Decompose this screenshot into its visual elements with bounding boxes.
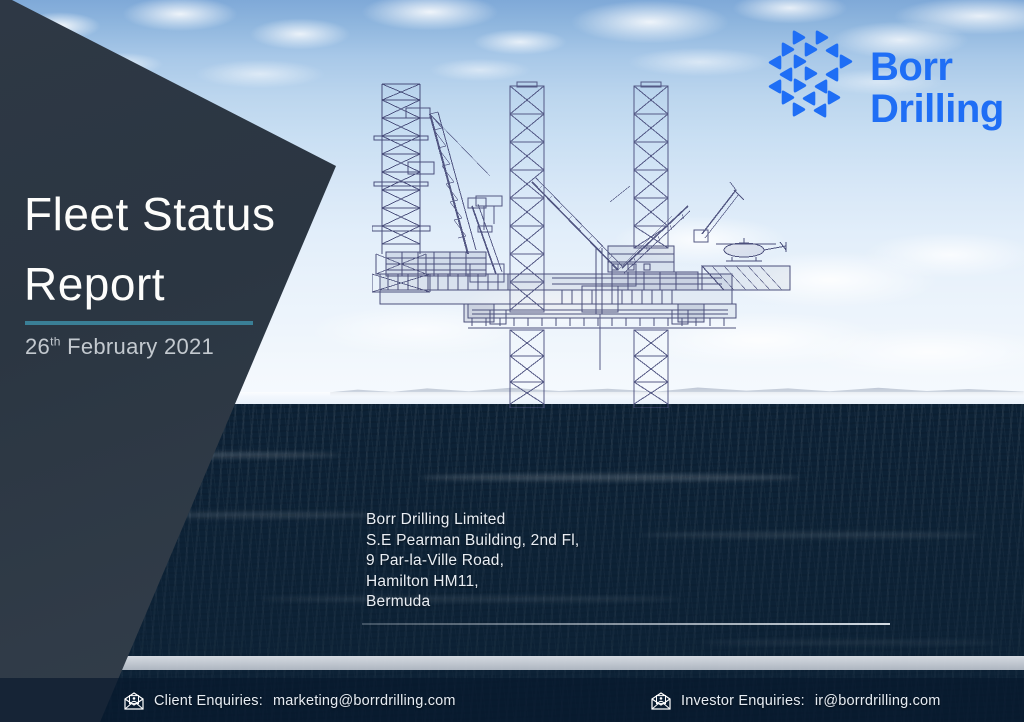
brand-name-line-1: Borr xyxy=(870,46,1004,88)
client-enquiries-label: Client Enquiries: xyxy=(154,693,263,709)
client-enquiries-email[interactable]: marketing@borrdrilling.com xyxy=(273,693,456,709)
address-line-5: Bermuda xyxy=(366,592,579,613)
address-line-2: S.E Pearman Building, 2nd Fl, xyxy=(366,531,579,552)
investor-enquiries[interactable]: Investor Enquiries: ir@borrdrilling.com xyxy=(651,691,941,711)
brand-name-line-2: Drilling xyxy=(870,88,1004,130)
client-enquiries[interactable]: Client Enquiries: marketing@borrdrilling… xyxy=(124,691,456,711)
report-date: 26th February 2021 xyxy=(25,334,214,360)
wave-highlight xyxy=(420,474,800,481)
envelope-icon xyxy=(124,691,144,711)
page-title: Fleet Status Report xyxy=(24,179,324,319)
footer-bar: Client Enquiries: marketing@borrdrilling… xyxy=(0,678,1024,722)
date-month-year: February 2021 xyxy=(61,334,214,359)
address-line-1: Borr Drilling Limited xyxy=(366,510,579,531)
wave-highlight xyxy=(700,640,1000,645)
title-line-2: Report xyxy=(24,249,324,319)
investor-enquiries-email[interactable]: ir@borrdrilling.com xyxy=(815,693,941,709)
envelope-icon xyxy=(651,691,671,711)
brand-logo[interactable]: Borr Drilling xyxy=(766,26,1014,128)
horizontal-divider-thin xyxy=(362,623,890,625)
wave-highlight xyxy=(640,532,980,538)
investor-enquiries-label: Investor Enquiries: xyxy=(681,693,805,709)
date-number: 26 xyxy=(25,334,50,359)
company-address: Borr Drilling Limited S.E Pearman Buildi… xyxy=(366,510,579,613)
fleet-status-report-cover: Borr Drilling Limited S.E Pearman Buildi… xyxy=(0,0,1024,722)
address-line-3: 9 Par-la-Ville Road, xyxy=(366,551,579,572)
address-line-4: Hamilton HM11, xyxy=(366,572,579,593)
brand-wordmark: Borr Drilling xyxy=(870,46,1004,130)
title-line-1: Fleet Status xyxy=(24,188,275,240)
triangle-grid-icon xyxy=(766,28,862,124)
jackup-rig-illustration xyxy=(372,78,792,408)
title-panel-content: Fleet Status Report 26th February 2021 xyxy=(0,0,360,722)
date-ordinal: th xyxy=(50,335,61,349)
title-accent-rule xyxy=(25,321,253,325)
